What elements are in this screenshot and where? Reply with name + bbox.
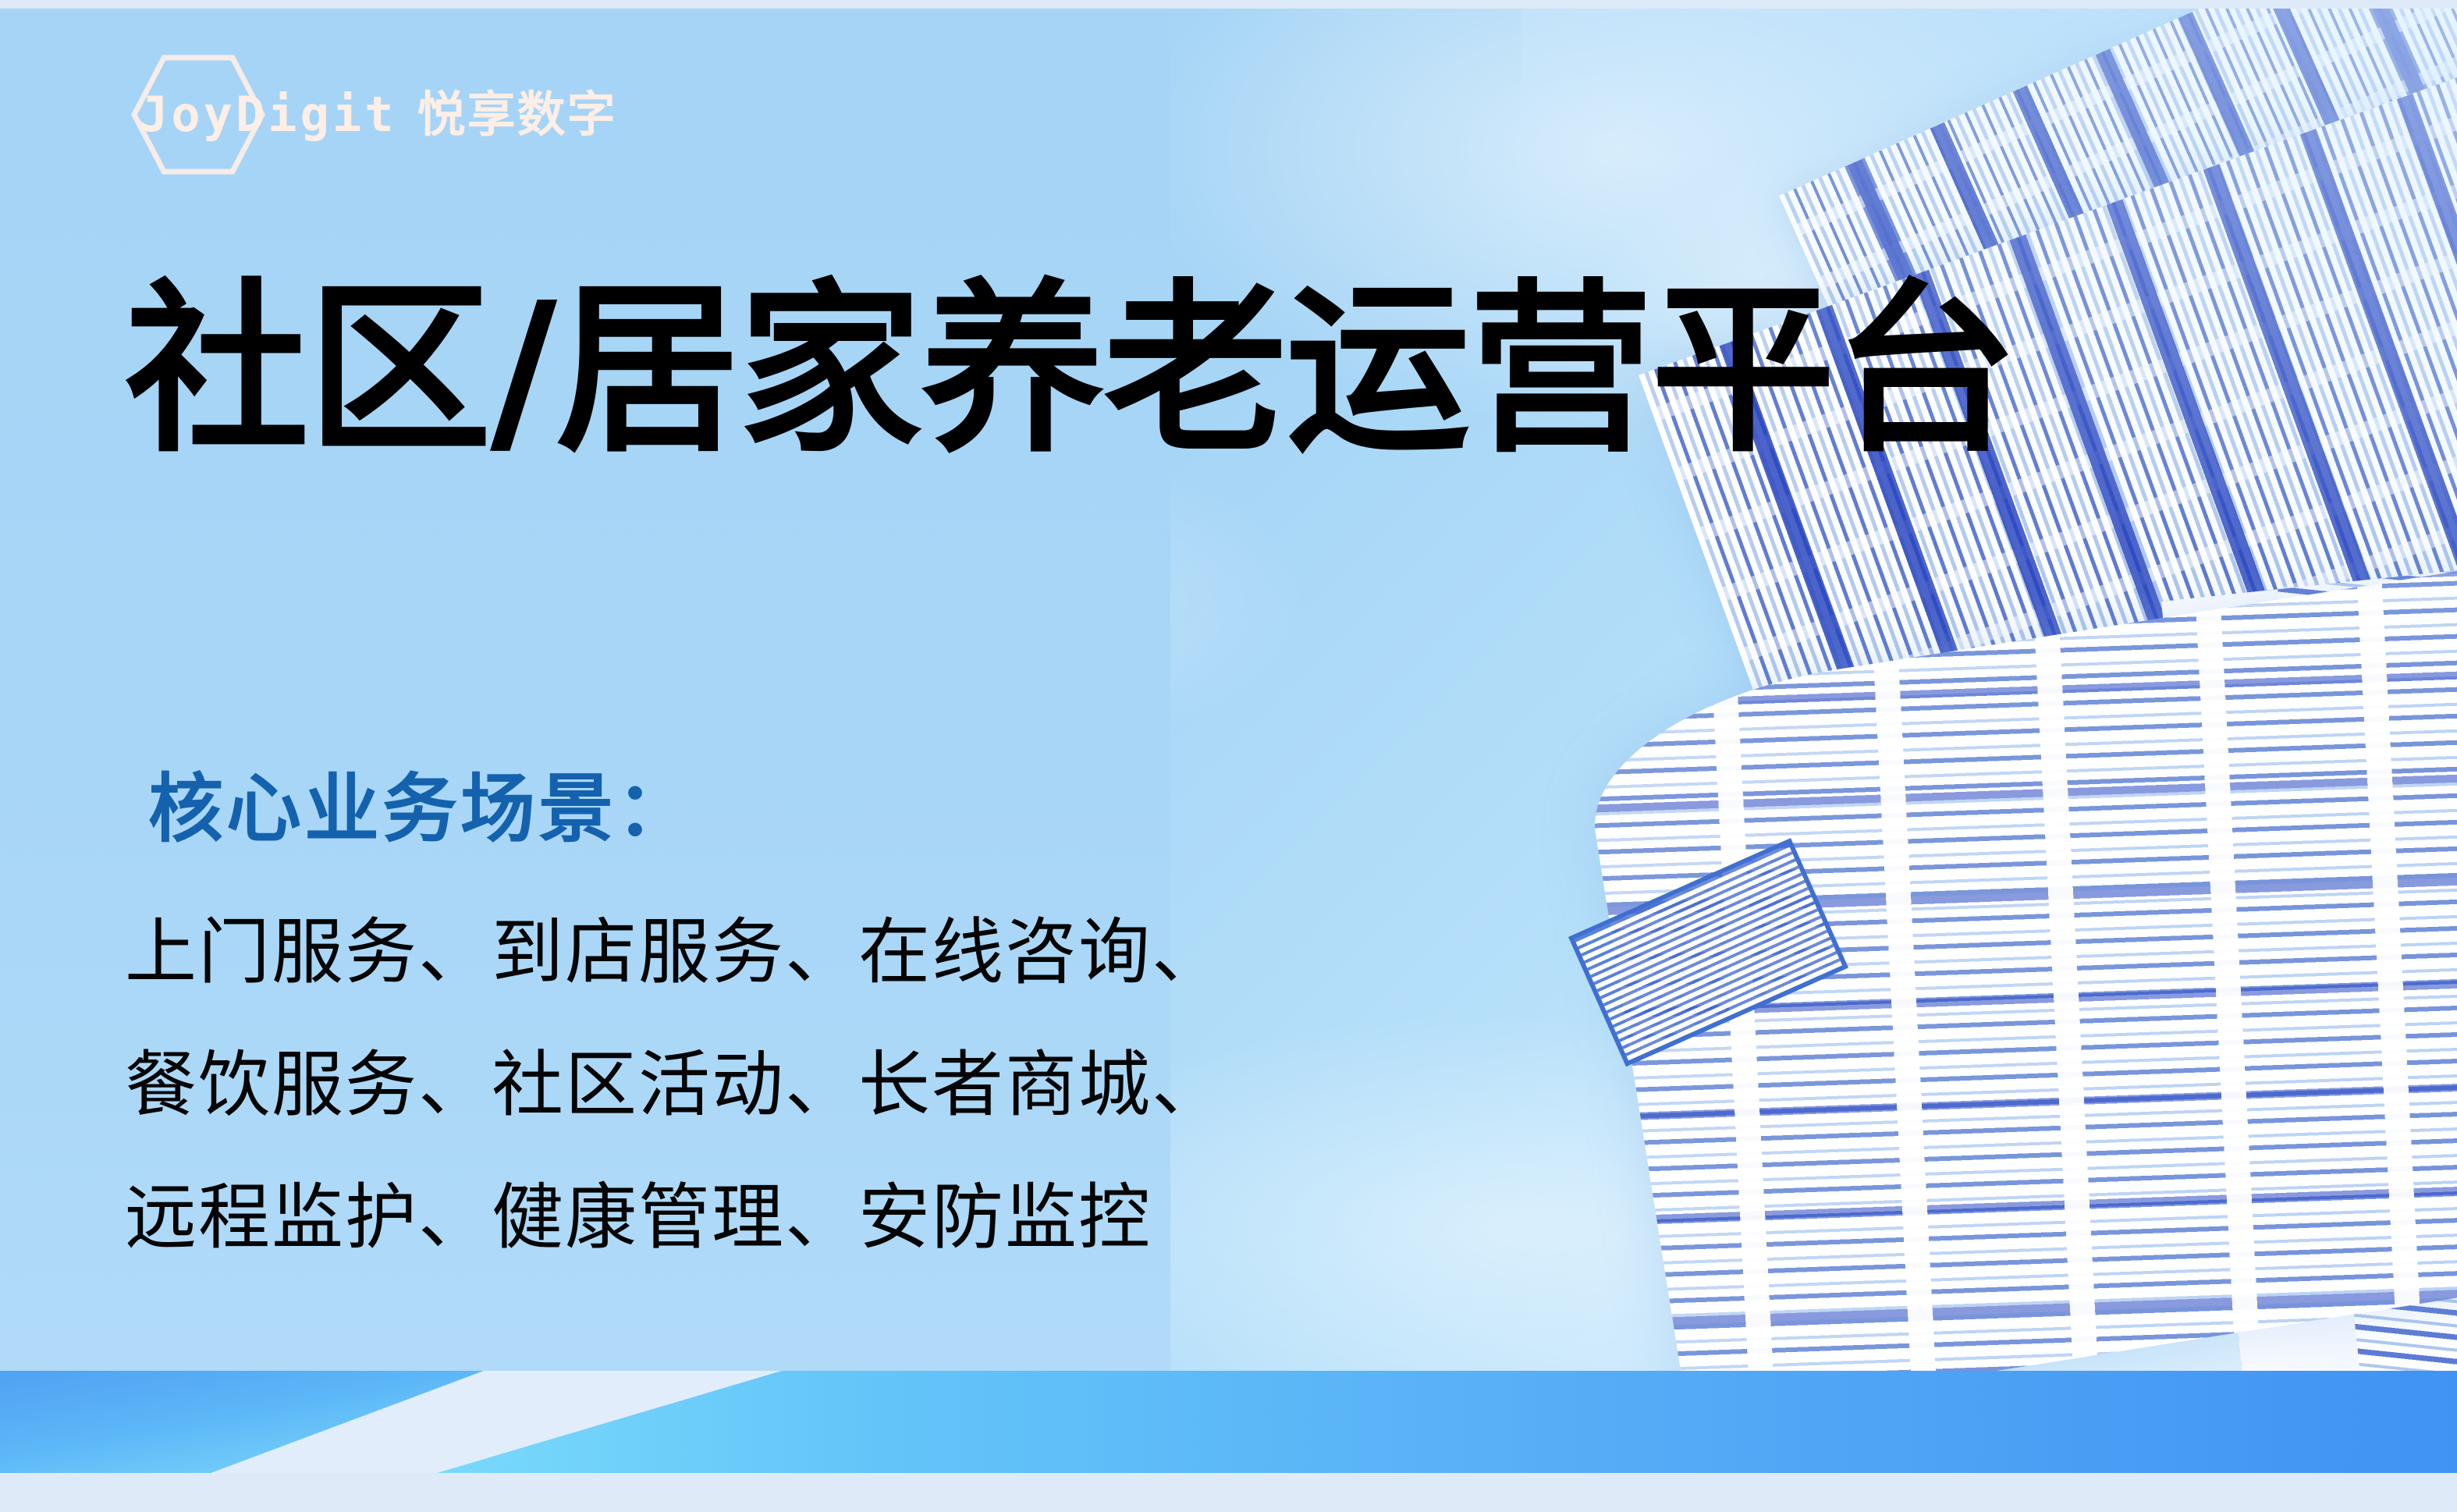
skyscraper-photo — [1521, 9, 2457, 1371]
scenario-line: 上门服务、到店服务、在线咨询、 — [125, 917, 1225, 988]
page-title: 社区/居家养老运营平台 — [125, 277, 2016, 465]
top-edge-strip — [0, 0, 2457, 9]
brand-logo[interactable]: JoyDigit 悦享数字 — [139, 69, 669, 161]
diagonal-ribbon-band — [0, 1371, 2457, 1512]
scenario-line: 餐饮服务、社区活动、长者商城、 — [125, 1049, 1225, 1121]
brand-logo-chinese: 悦享数字 — [417, 91, 617, 139]
ribbon-right-shape — [437, 1371, 2457, 1473]
brand-logo-mark: JoyDigit — [139, 91, 397, 139]
slide-canvas: JoyDigit 悦享数字 社区/居家养老运营平台 核心业务场景： 上门服务、到… — [0, 0, 2457, 1512]
scenario-line: 远程监护、健康管理、安防监控 — [125, 1182, 1225, 1254]
ribbon-foot-strip — [0, 1473, 2457, 1512]
scenario-list: 上门服务、到店服务、在线咨询、 餐饮服务、社区活动、长者商城、 远程监护、健康管… — [125, 917, 1225, 1254]
section-heading: 核心业务场景： — [148, 768, 694, 851]
